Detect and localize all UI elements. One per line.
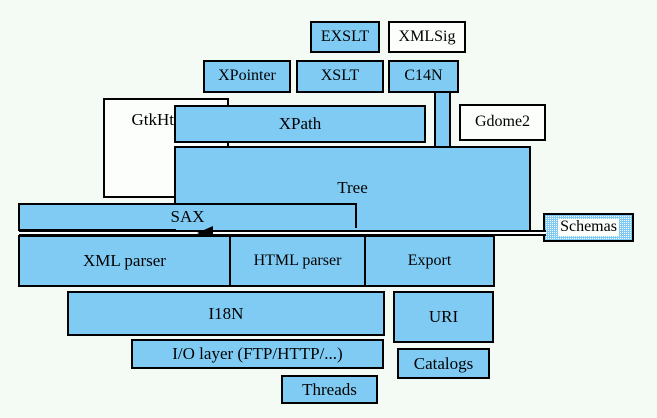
box-xpath-label: XPath: [279, 115, 322, 133]
box-catalogs[interactable]: Catalogs: [397, 348, 490, 379]
box-catalogs-label: Catalogs: [414, 355, 474, 373]
box-html-parser-label: HTML parser: [254, 253, 342, 270]
box-c14n-label: C14N: [404, 68, 442, 85]
box-io-layer-label: I/O layer (FTP/HTTP/...): [172, 345, 342, 363]
box-uri-label: URI: [429, 308, 458, 326]
box-export[interactable]: Export: [364, 235, 495, 287]
box-tree-label: Tree: [337, 179, 368, 197]
box-i18n-label: I18N: [209, 305, 244, 323]
box-sax[interactable]: SAX: [18, 203, 357, 231]
box-schemas[interactable]: Schemas: [543, 213, 634, 242]
box-xmlsig-label: XMLSig: [399, 29, 456, 46]
box-xpath[interactable]: XPath: [174, 105, 426, 143]
architecture-diagram: EXSLT XMLSig XPointer XSLT C14N GtkHtml2…: [0, 0, 657, 418]
box-exslt-label: EXSLT: [321, 29, 369, 46]
box-sax-label: SAX: [170, 208, 204, 226]
box-io-layer[interactable]: I/O layer (FTP/HTTP/...): [131, 339, 384, 369]
box-threads-label: Threads: [302, 381, 357, 399]
box-c14n[interactable]: C14N: [388, 60, 459, 93]
box-xml-parser-label: XML parser: [83, 252, 166, 270]
box-threads[interactable]: Threads: [281, 375, 378, 404]
box-xslt[interactable]: XSLT: [296, 60, 384, 93]
sax-tree-overlap-fill: [357, 205, 493, 230]
box-export-label: Export: [408, 253, 452, 270]
box-xpointer[interactable]: XPointer: [203, 60, 291, 93]
box-gdome2[interactable]: Gdome2: [459, 104, 546, 141]
box-xmlsig[interactable]: XMLSig: [388, 21, 466, 53]
box-xslt-label: XSLT: [321, 68, 360, 85]
box-exslt[interactable]: EXSLT: [310, 21, 380, 53]
box-schemas-label: Schemas: [558, 219, 619, 236]
box-i18n[interactable]: I18N: [67, 291, 385, 336]
box-xml-parser[interactable]: XML parser: [18, 235, 231, 287]
box-xpointer-label: XPointer: [218, 68, 276, 85]
box-gdome2-label: Gdome2: [475, 114, 530, 131]
box-uri[interactable]: URI: [393, 291, 494, 343]
box-html-parser[interactable]: HTML parser: [229, 235, 366, 287]
